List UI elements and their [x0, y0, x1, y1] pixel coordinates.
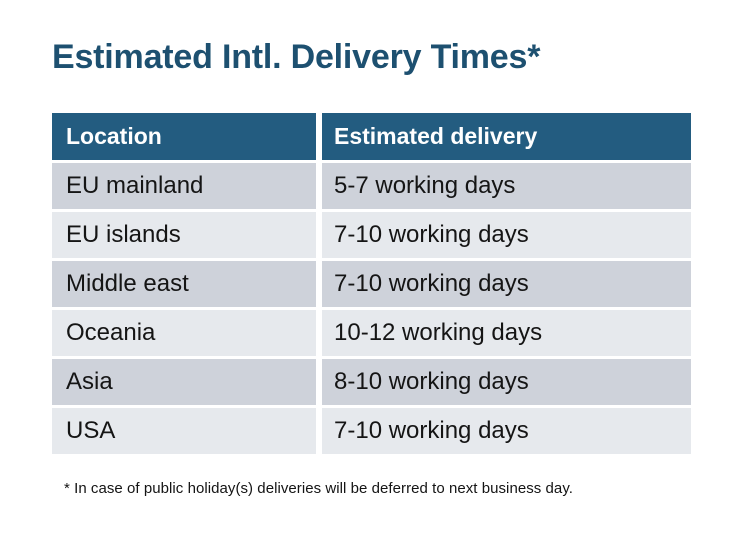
- column-header-location: Location: [52, 113, 316, 160]
- table-row: EU islands 7-10 working days: [52, 212, 691, 258]
- table-header-row: Location Estimated delivery: [52, 113, 691, 160]
- cell-location: Oceania: [52, 310, 316, 356]
- table-row: Asia 8-10 working days: [52, 359, 691, 405]
- delivery-times-page: Estimated Intl. Delivery Times* Location…: [0, 0, 745, 536]
- cell-estimated-delivery: 7-10 working days: [322, 261, 691, 307]
- table-row: Oceania 10-12 working days: [52, 310, 691, 356]
- cell-location: EU mainland: [52, 163, 316, 209]
- page-title: Estimated Intl. Delivery Times*: [52, 36, 540, 78]
- cell-location: USA: [52, 408, 316, 454]
- cell-location: Asia: [52, 359, 316, 405]
- cell-estimated-delivery: 7-10 working days: [322, 212, 691, 258]
- cell-estimated-delivery: 10-12 working days: [322, 310, 691, 356]
- column-header-estimated-delivery: Estimated delivery: [322, 113, 691, 160]
- footnote-text: * In case of public holiday(s) deliverie…: [64, 480, 573, 497]
- table-row: USA 7-10 working days: [52, 408, 691, 454]
- cell-estimated-delivery: 8-10 working days: [322, 359, 691, 405]
- cell-location: Middle east: [52, 261, 316, 307]
- table-row: Middle east 7-10 working days: [52, 261, 691, 307]
- table-row: EU mainland 5-7 working days: [52, 163, 691, 209]
- cell-location: EU islands: [52, 212, 316, 258]
- cell-estimated-delivery: 5-7 working days: [322, 163, 691, 209]
- cell-estimated-delivery: 7-10 working days: [322, 408, 691, 454]
- delivery-times-table: Location Estimated delivery EU mainland …: [52, 113, 691, 454]
